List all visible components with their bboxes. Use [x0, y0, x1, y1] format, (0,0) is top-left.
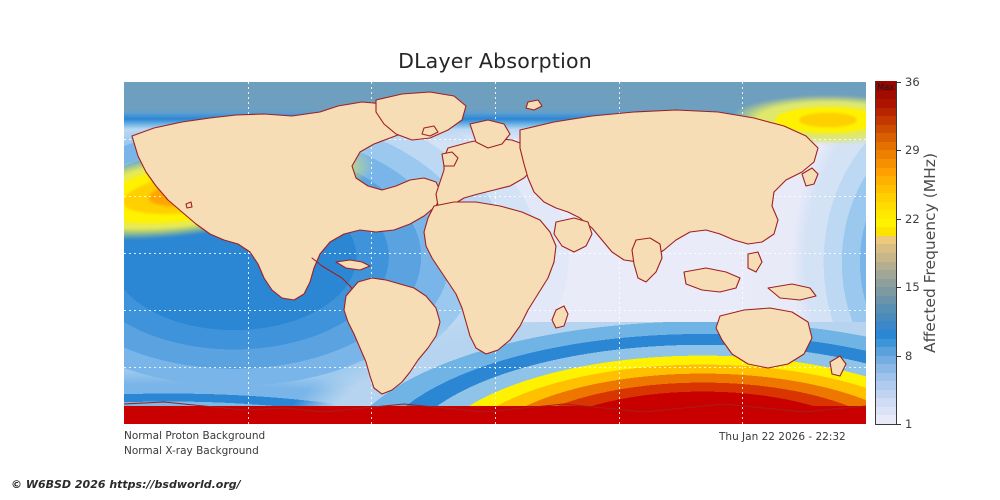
- copyright-notice: © W6BSD 2026 https://bsdworld.org/: [11, 478, 241, 491]
- colorbar-segment: [876, 201, 896, 210]
- philippines: [748, 252, 762, 272]
- colorbar-segment: [876, 415, 896, 424]
- background-conditions: Normal Proton Background Normal X-ray Ba…: [124, 429, 265, 458]
- colorbar-segment: [876, 218, 896, 227]
- colorbar-segment: [876, 406, 896, 415]
- colorbar-segment: [876, 99, 896, 108]
- colorbar-axis-label-text: Affected Frequency (MHz): [921, 153, 939, 353]
- absorption-map[interactable]: [124, 82, 866, 424]
- colorbar-tick: [896, 424, 901, 425]
- africa: [424, 202, 556, 354]
- colorbar-tick: [896, 219, 901, 220]
- australia: [716, 308, 812, 368]
- colorbar-max-label: Max: [877, 83, 894, 93]
- colorbar-segment: [876, 141, 896, 150]
- colorbar-segment: [876, 346, 896, 355]
- colorbar-segment: [876, 244, 896, 253]
- colorbar-segment: [876, 116, 896, 125]
- colorbar-segment: [876, 398, 896, 407]
- colorbar-segment: [876, 372, 896, 381]
- caribbean-isles: [336, 260, 370, 270]
- colorbar-segment: [876, 304, 896, 313]
- colorbar-segment: [876, 381, 896, 390]
- new-guinea: [768, 284, 816, 300]
- colorbar-tick: [896, 150, 901, 151]
- proton-background-text: Normal Proton Background: [124, 429, 265, 444]
- colorbar-segment: [876, 167, 896, 176]
- colorbar-tick-label: 1: [905, 417, 912, 431]
- colorbar-tick-label: 36: [905, 75, 920, 89]
- new-zealand: [830, 356, 846, 376]
- madagascar: [552, 306, 568, 328]
- colorbar-tick-label: 8: [905, 349, 912, 363]
- colorbar-segment: [876, 321, 896, 330]
- coastlines-layer: [124, 82, 866, 424]
- timestamp: Thu Jan 22 2026 - 22:32: [719, 431, 846, 443]
- colorbar-segment: [876, 184, 896, 193]
- colorbar-segment: [876, 389, 896, 398]
- south-america: [344, 278, 440, 394]
- colorbar-segment: [876, 107, 896, 116]
- colorbar-gradient: [876, 82, 896, 424]
- colorbar-segment: [876, 133, 896, 142]
- colorbar-segment: [876, 252, 896, 261]
- colorbar-segment: [876, 287, 896, 296]
- india: [632, 238, 662, 282]
- colorbar-segment: [876, 329, 896, 338]
- colorbar-segment: [876, 235, 896, 244]
- colorbar-axis-label: Affected Frequency (MHz): [921, 82, 939, 424]
- southeast-asia-islands: [684, 268, 740, 292]
- xray-background-text: Normal X-ray Background: [124, 444, 265, 459]
- svalbard: [526, 100, 542, 110]
- colorbar-segment: [876, 261, 896, 270]
- colorbar-tick: [896, 356, 901, 357]
- colorbar-segment: [876, 312, 896, 321]
- arabia: [554, 218, 592, 252]
- colorbar-segment: [876, 210, 896, 219]
- figure-canvas: DLayer Absorption: [0, 0, 1000, 500]
- colorbar-segment: [876, 295, 896, 304]
- colorbar-segment: [876, 270, 896, 279]
- colorbar-segment: [876, 175, 896, 184]
- colorbar-segment: [876, 364, 896, 373]
- colorbar-segment: [876, 227, 896, 236]
- colorbar-segment: [876, 278, 896, 287]
- colorbar-tick: [896, 82, 901, 83]
- page-title: DLayer Absorption: [0, 49, 990, 73]
- colorbar-tick-label: 22: [905, 212, 920, 226]
- colorbar-segment: [876, 158, 896, 167]
- colorbar-segment: [876, 355, 896, 364]
- colorbar[interactable]: Max: [876, 82, 896, 424]
- colorbar-segment: [876, 193, 896, 202]
- colorbar-segment: [876, 338, 896, 347]
- antarctica-coastline: [124, 402, 866, 412]
- colorbar-tick-label: 29: [905, 143, 920, 157]
- colorbar-tick: [896, 287, 901, 288]
- colorbar-segment: [876, 124, 896, 133]
- colorbar-tick-label: 15: [905, 280, 920, 294]
- colorbar-segment: [876, 150, 896, 159]
